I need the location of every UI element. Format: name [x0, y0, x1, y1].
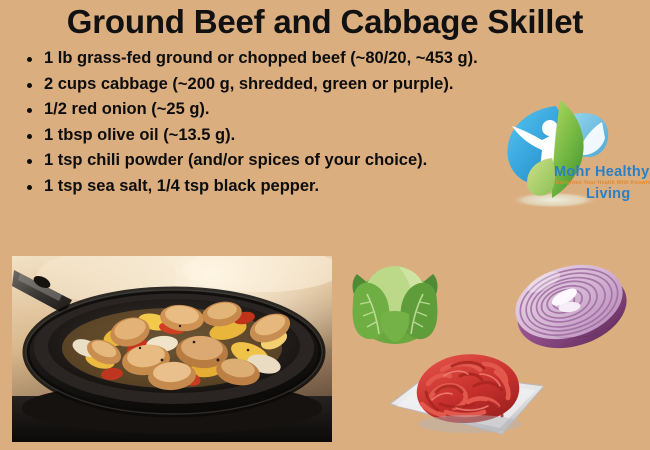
ingredient-list: 1 lb grass-fed ground or chopped beef (~…: [24, 46, 554, 199]
logo-name-line-1: Mohr Healthy: [554, 164, 649, 180]
page-title: Ground Beef and Cabbage Skillet: [0, 2, 650, 42]
logo-name-line-2: Living: [586, 186, 631, 202]
list-item: 2 cups cabbage (~200 g, shredded, green …: [24, 72, 554, 98]
list-item: 1 tsp sea salt, 1/4 tsp black pepper.: [24, 174, 554, 200]
cabbage-illustration: [343, 258, 447, 350]
list-item: 1 tsp chili powder (and/or spices of you…: [24, 148, 554, 174]
list-item: 1/2 red onion (~25 g).: [24, 97, 554, 123]
brand-logo: Mohr Healthy Enlighten Your Health With …: [498, 96, 646, 214]
ground-beef-illustration: [384, 342, 554, 444]
list-item: 1 tbsp olive oil (~13.5 g).: [24, 123, 554, 149]
onion-illustration: [508, 252, 634, 352]
list-item: 1 lb grass-fed ground or chopped beef (~…: [24, 46, 554, 72]
recipe-card: Ground Beef and Cabbage Skillet 1 lb gra…: [0, 0, 650, 450]
skillet-photo: [12, 256, 332, 442]
